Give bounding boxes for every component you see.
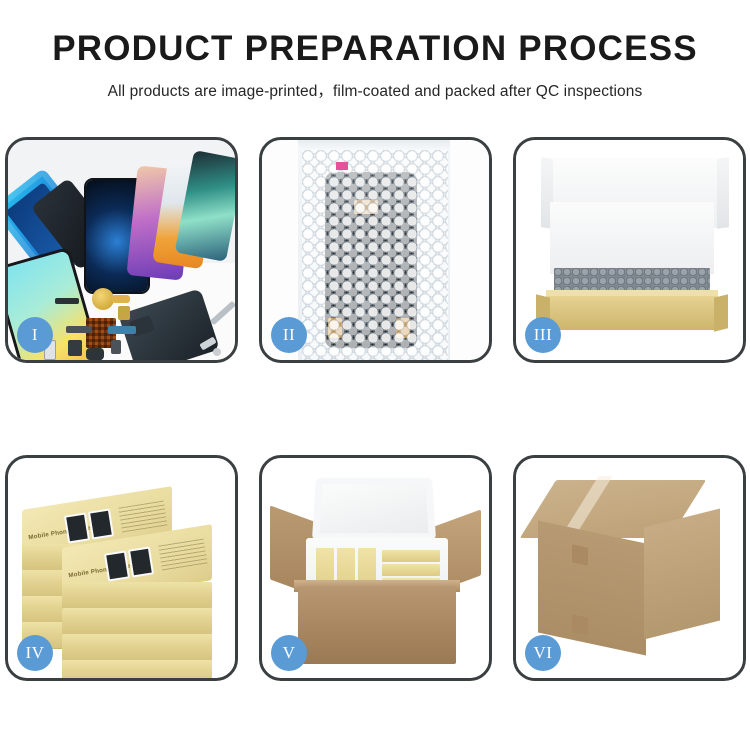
- pink-sticker: [336, 162, 348, 170]
- carton-tab-upper: [572, 544, 588, 565]
- box-thumb-front-2: [128, 546, 154, 577]
- stack-box-front-3: [62, 634, 212, 660]
- box-thumb-back-2: [88, 508, 114, 539]
- wireless-charging-coil: [92, 288, 114, 310]
- inner-box-5: [382, 564, 440, 576]
- part-speaker: [55, 298, 79, 304]
- foam-lid: [312, 478, 436, 541]
- step-badge-3: III: [525, 317, 561, 353]
- carton-side-face: [644, 509, 720, 640]
- step-panel-2[interactable]: II: [259, 137, 492, 363]
- step-badge-2: II: [271, 317, 307, 353]
- step-badge-1: I: [17, 317, 53, 353]
- step-panel-3[interactable]: III: [513, 137, 746, 363]
- yellow-box-tray: [546, 296, 718, 330]
- stack-box-front-4: [62, 660, 212, 678]
- step-badge-6: VI: [525, 635, 561, 671]
- stack-box-front-2: [62, 608, 212, 634]
- box-thumb-back-1: [64, 512, 90, 543]
- box-thumb-front-1: [104, 550, 130, 581]
- step-panel-6[interactable]: VI: [513, 455, 746, 681]
- part-screw: [213, 348, 221, 356]
- product-preparation-infographic: PRODUCT PREPARATION PROCESS All products…: [0, 0, 750, 750]
- step-badge-5: V: [271, 635, 307, 671]
- part-connector-gold: [118, 306, 130, 320]
- bubble-wrap-texture: [302, 150, 448, 360]
- carton-front: [298, 586, 456, 664]
- part-taptic: [86, 348, 104, 360]
- step-panel-5[interactable]: V: [259, 455, 492, 681]
- part-flex-blue: [108, 326, 136, 334]
- part-chip: [111, 340, 121, 354]
- bag-seal: [298, 140, 450, 150]
- part-cable: [66, 326, 92, 333]
- page-title: PRODUCT PREPARATION PROCESS: [0, 30, 750, 69]
- header: PRODUCT PREPARATION PROCESS All products…: [0, 0, 750, 101]
- inner-box-4: [382, 550, 440, 562]
- step-panel-4[interactable]: Mobile Phone Spare Parts Mobile Phone Sp…: [5, 455, 238, 681]
- part-camera: [68, 340, 82, 356]
- part-flex-gold: [112, 295, 130, 303]
- carton-tab-lower: [572, 614, 588, 635]
- foam-sheet: [550, 202, 714, 274]
- step-panel-1[interactable]: I: [5, 137, 238, 363]
- page-subtitle: All products are image-printed，film-coat…: [0, 79, 750, 101]
- carton-front-face: [538, 521, 646, 656]
- stack-box-front-1: [62, 582, 212, 608]
- process-step-grid: I II: [5, 137, 745, 697]
- step-badge-4: IV: [17, 635, 53, 671]
